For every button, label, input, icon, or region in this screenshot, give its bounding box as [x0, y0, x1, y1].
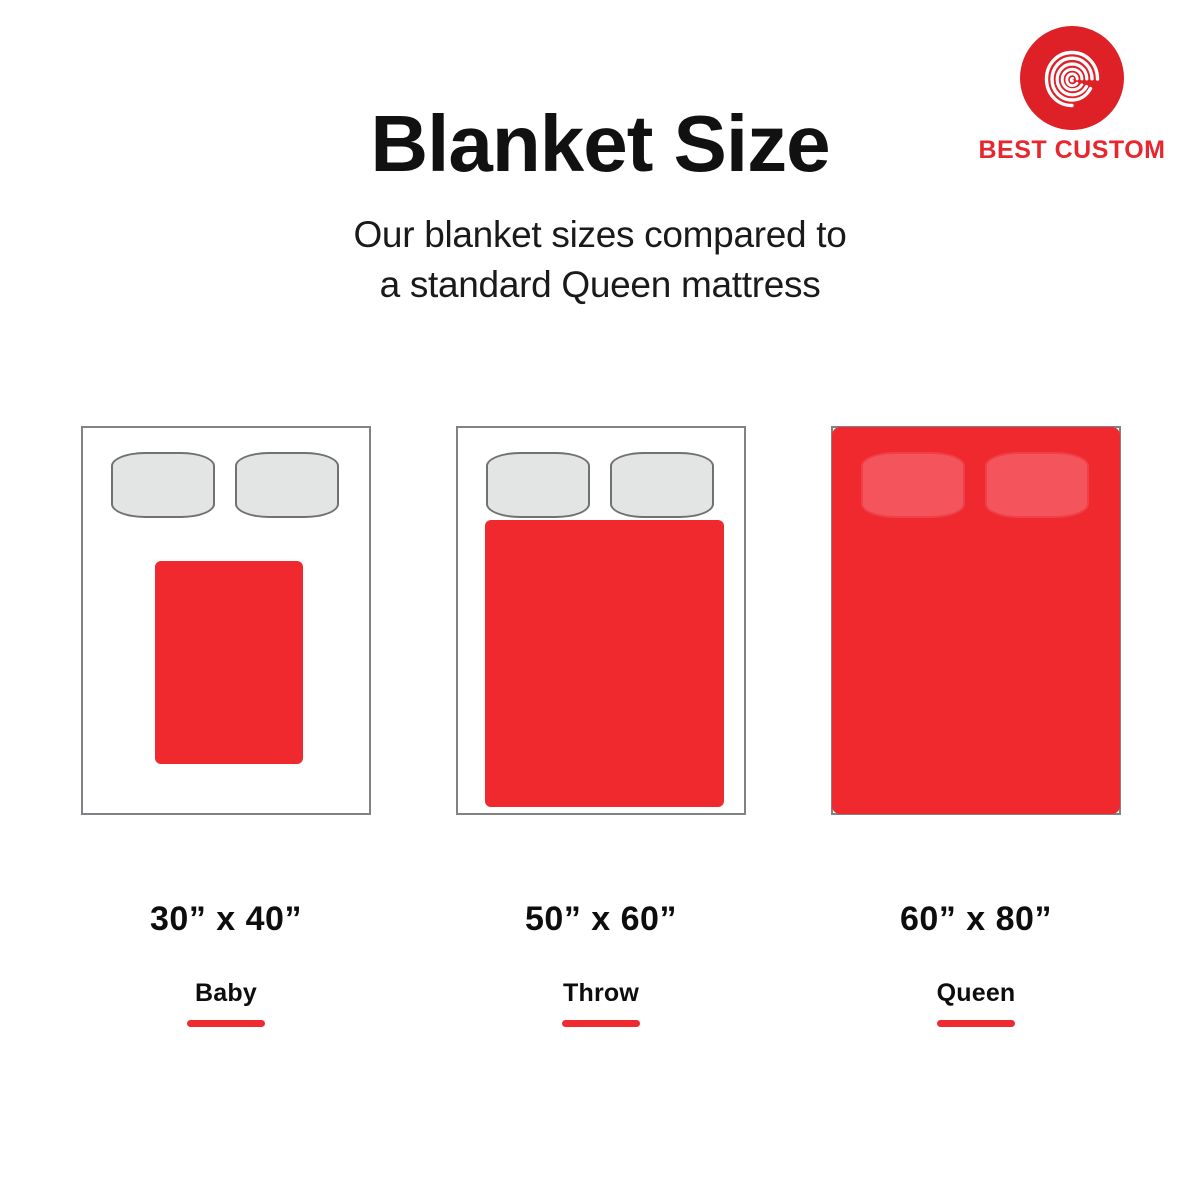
dimensions-label: 30” x 40” [81, 900, 371, 939]
bed-diagram-queen [831, 426, 1121, 815]
blanket-baby [155, 561, 303, 764]
size-name-label: Queen [831, 979, 1121, 1008]
pillow-right-icon [985, 452, 1089, 518]
size-name-label: Baby [81, 979, 371, 1008]
pillow-left-icon [111, 452, 215, 518]
page-title: Blanket Size [0, 104, 1200, 184]
pillow-left-icon [486, 452, 590, 518]
bed-diagram-baby [81, 426, 371, 815]
page-subtitle-line-1: Our blanket sizes compared to [0, 210, 1200, 260]
accent-underline [187, 1020, 265, 1027]
blanket-throw [485, 520, 724, 807]
accent-underline [937, 1020, 1015, 1027]
dimensions-label: 50” x 60” [456, 900, 746, 939]
size-name-label: Throw [456, 979, 746, 1008]
dimensions-label: 60” x 80” [831, 900, 1121, 939]
pillow-right-icon [235, 452, 339, 518]
caption-row: 30” x 40” Baby 50” x 60” Throw 60” x 80”… [0, 900, 1200, 1060]
accent-underline [562, 1020, 640, 1027]
bed-diagram-row [0, 426, 1200, 816]
pillow-right-icon [610, 452, 714, 518]
caption-queen: 60” x 80” Queen [831, 900, 1121, 1027]
heading-block: Blanket Size Our blanket sizes compared … [0, 104, 1200, 310]
caption-baby: 30” x 40” Baby [81, 900, 371, 1027]
pillow-left-icon [861, 452, 965, 518]
page-subtitle: Our blanket sizes compared to a standard… [0, 210, 1200, 310]
caption-throw: 50” x 60” Throw [456, 900, 746, 1027]
page-subtitle-line-2: a standard Queen mattress [0, 260, 1200, 310]
bed-diagram-throw [456, 426, 746, 815]
